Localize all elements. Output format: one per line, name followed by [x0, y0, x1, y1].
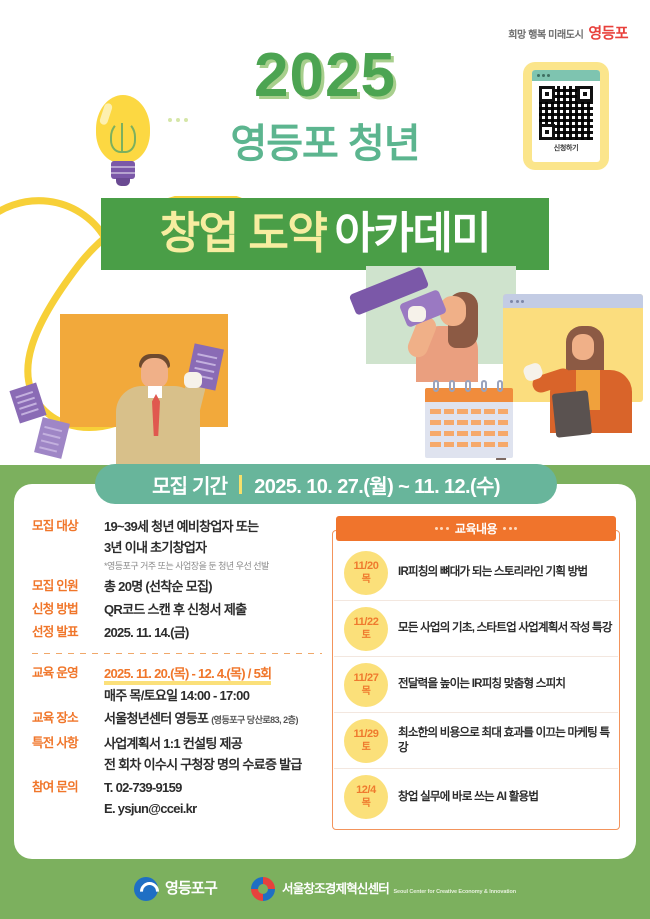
- session-date: 11/22: [354, 616, 379, 629]
- brand-slogan: 희망 행복 미래도시: [508, 26, 583, 41]
- schedule-highlight: 2025. 11. 20.(목) - 12. 4.(목) / 5회: [104, 663, 271, 685]
- brand-logo: 희망 행복 미래도시 영등포: [508, 22, 628, 43]
- woman-with-telescope-illustration: [368, 274, 498, 380]
- detail-row-benefits: 특전 사항 사업계획서 1:1 컨설팅 제공 전 회차 이수시 구청장 명의 수…: [32, 733, 322, 775]
- detail-value: 서울청년센터 영등포 (영등포구 당산로83, 2층): [104, 708, 298, 731]
- curriculum-item: 11/22 토 모든 사업의 기초, 스타트업 사업계획서 작성 특강: [334, 601, 618, 657]
- detail-row-target: 모집 대상 19~39세 청년 예비창업자 또는 3년 이내 초기창업자 *영등…: [32, 516, 322, 574]
- flying-paper-icon: [34, 417, 70, 459]
- hero-title-band: 창업 도약 아카데미: [101, 198, 549, 270]
- calendar-body: [425, 402, 513, 458]
- woman-with-tablet-illustration: [536, 326, 646, 433]
- detail-label: 모집 대상: [32, 516, 104, 574]
- footer-logo-name: 영등포구: [165, 880, 217, 897]
- session-title: 창업 실무에 바로 쓰는 AI 활용법: [398, 790, 538, 805]
- detail-label: 교육 운영: [32, 663, 104, 706]
- calendar-ring: [465, 380, 471, 392]
- calendar-ring: [449, 380, 455, 392]
- session-day: 목: [362, 685, 371, 698]
- detail-value-line: 3년 이내 초기창업자: [104, 537, 269, 558]
- detail-row-contact: 참여 문의 T. 02-739-9159 E. ysjun@ccei.kr: [32, 777, 322, 819]
- curriculum-header: 교육내용: [336, 516, 616, 541]
- browser-titlebar: [503, 294, 643, 308]
- detail-label: 교육 장소: [32, 708, 104, 731]
- footer-logos: 영등포구 서울창조경제혁신센터 Seoul Center for Creativ…: [0, 859, 650, 919]
- session-date-badge: 11/20 목: [344, 551, 388, 595]
- footer-logo-ccei: 서울창조경제혁신센터 Seoul Center for Creative Eco…: [251, 877, 516, 901]
- session-date-badge: 11/22 토: [344, 607, 388, 651]
- contact-phone[interactable]: T. 02-739-9159: [104, 777, 197, 798]
- dots-decoration-icon: [435, 527, 449, 530]
- footer-logo-yeongdeungpo: 영등포구: [134, 877, 217, 901]
- curriculum-item: 11/29 토 최소한의 비용으로 최대 효과를 이끄는 마케팅 특강: [334, 713, 618, 769]
- detail-label: 선정 발표: [32, 622, 104, 643]
- curriculum-header-label: 교육내용: [455, 520, 497, 537]
- curriculum-item: 11/20 목 IR피칭의 뼈대가 되는 스토리라인 기획 방법: [334, 545, 618, 601]
- session-date: 11/27: [354, 672, 379, 685]
- detail-value: 총 20명 (선착순 모집): [104, 576, 212, 597]
- calendar-ring: [433, 380, 439, 392]
- detail-label: 모집 인원: [32, 576, 104, 597]
- man-with-document-illustration: [98, 350, 218, 465]
- calendar-icon: [425, 380, 519, 458]
- detail-row-capacity: 모집 인원 총 20명 (선착순 모집): [32, 576, 322, 597]
- benefit-line: 사업계획서 1:1 컨설팅 제공: [104, 733, 302, 754]
- footer-logo-text: 서울창조경제혁신센터 Seoul Center for Creative Eco…: [282, 881, 516, 898]
- detail-row-announcement: 선정 발표 2025. 11. 14.(금): [32, 622, 322, 643]
- curriculum-item: 12/4 목 창업 실무에 바로 쓰는 AI 활용법: [334, 769, 618, 825]
- divider: [239, 475, 242, 494]
- session-day: 토: [362, 629, 371, 642]
- detail-value: 2025. 11. 20.(목) - 12. 4.(목) / 5회 매주 목/토…: [104, 663, 271, 706]
- detail-label: 특전 사항: [32, 733, 104, 775]
- hero-subtitle: 영등포 청년: [0, 122, 650, 166]
- dots-decoration-icon: [503, 527, 517, 530]
- footer-logo-subtitle: Seoul Center for Creative Economy & Inno…: [393, 889, 516, 895]
- yeongdeungpo-gu-logo-icon: [134, 877, 158, 901]
- detail-value: QR코드 스캔 후 신청서 제출: [104, 599, 246, 620]
- man-head: [141, 358, 168, 388]
- telescope-woman-hand: [408, 306, 426, 322]
- schedule-time: 매주 목/토요일 14:00 - 17:00: [104, 685, 271, 706]
- man-hand: [184, 372, 202, 388]
- session-title: 최소한의 비용으로 최대 효과를 이끄는 마케팅 특강: [398, 726, 618, 756]
- tablet-woman-face: [572, 334, 594, 360]
- session-date: 11/29: [354, 728, 379, 741]
- detail-row-place: 교육 장소 서울청년센터 영등포 (영등포구 당산로83, 2층): [32, 708, 322, 731]
- hero-title-highlight: 창업 도약: [160, 212, 327, 256]
- place-address: (영등포구 당산로83, 2층): [211, 715, 298, 725]
- detail-value: 사업계획서 1:1 컨설팅 제공 전 회차 이수시 구청장 명의 수료증 발급: [104, 733, 302, 775]
- curriculum-list: 11/20 목 IR피칭의 뼈대가 되는 스토리라인 기획 방법 11/22 토…: [334, 545, 618, 825]
- illustration-band: [0, 268, 650, 465]
- session-date: 11/20: [354, 560, 379, 573]
- details-column: 모집 대상 19~39세 청년 예비창업자 또는 3년 이내 초기창업자 *영등…: [32, 516, 322, 821]
- footer-logo-text: 영등포구: [165, 881, 217, 898]
- tablet-icon: [552, 390, 592, 438]
- session-day: 목: [362, 797, 371, 810]
- curriculum-item: 11/27 목 전달력을 높이는 IR피칭 맞춤형 스피치: [334, 657, 618, 713]
- dotted-divider: [32, 653, 322, 654]
- detail-row-apply: 신청 방법 QR코드 스캔 후 신청서 제출: [32, 599, 322, 620]
- ccei-logo-icon: [251, 877, 275, 901]
- session-date-badge: 11/29 토: [344, 719, 388, 763]
- session-date: 12/4: [356, 784, 376, 797]
- session-title: 모든 사업의 기초, 스타트업 사업계획서 작성 특강: [398, 621, 612, 636]
- place-name: 서울청년센터 영등포: [104, 711, 208, 726]
- detail-value: T. 02-739-9159 E. ysjun@ccei.kr: [104, 777, 197, 819]
- flying-paper-icon: [9, 383, 46, 424]
- session-date-badge: 12/4 목: [344, 775, 388, 819]
- benefit-line: 전 회차 이수시 구청장 명의 수료증 발급: [104, 754, 302, 775]
- recruitment-period-banner: 모집 기간 2025. 10. 27.(월) ~ 11. 12.(수): [95, 464, 557, 504]
- recruitment-period-value: 2025. 10. 27.(월) ~ 11. 12.(수): [254, 470, 500, 499]
- calendar-ring: [497, 380, 503, 392]
- detail-value: 2025. 11. 14.(금): [104, 622, 189, 643]
- detail-value: 19~39세 청년 예비창업자 또는 3년 이내 초기창업자 *영등포구 거주 …: [104, 516, 269, 574]
- brand-name: 영등포: [588, 22, 628, 43]
- hero-section: 희망 행복 미래도시 영등포 신청하기: [0, 0, 650, 465]
- hero-title-main: 아카데미: [334, 212, 490, 256]
- detail-label: 참여 문의: [32, 777, 104, 819]
- recruitment-period-label: 모집 기간: [152, 470, 227, 499]
- detail-row-schedule: 교육 운영 2025. 11. 20.(목) - 12. 4.(목) / 5회 …: [32, 663, 322, 706]
- hero-year: 2025: [0, 45, 650, 107]
- contact-email[interactable]: E. ysjun@ccei.kr: [104, 798, 197, 819]
- session-title: IR피칭의 뼈대가 되는 스토리라인 기획 방법: [398, 565, 587, 580]
- session-title: 전달력을 높이는 IR피칭 맞춤형 스피치: [398, 677, 565, 692]
- detail-value-line: 19~39세 청년 예비창업자 또는: [104, 516, 269, 537]
- detail-note: *영등포구 거주 또는 사업장을 둔 청년 우선 선발: [104, 559, 269, 574]
- detail-label: 신청 방법: [32, 599, 104, 620]
- bulb-tip: [116, 178, 130, 186]
- session-date-badge: 11/27 목: [344, 663, 388, 707]
- footer-logo-name: 서울창조경제혁신센터: [282, 882, 389, 896]
- poster-root: 희망 행복 미래도시 영등포 신청하기: [0, 0, 650, 919]
- session-day: 토: [362, 741, 371, 754]
- calendar-ring: [481, 380, 487, 392]
- session-day: 목: [362, 573, 371, 586]
